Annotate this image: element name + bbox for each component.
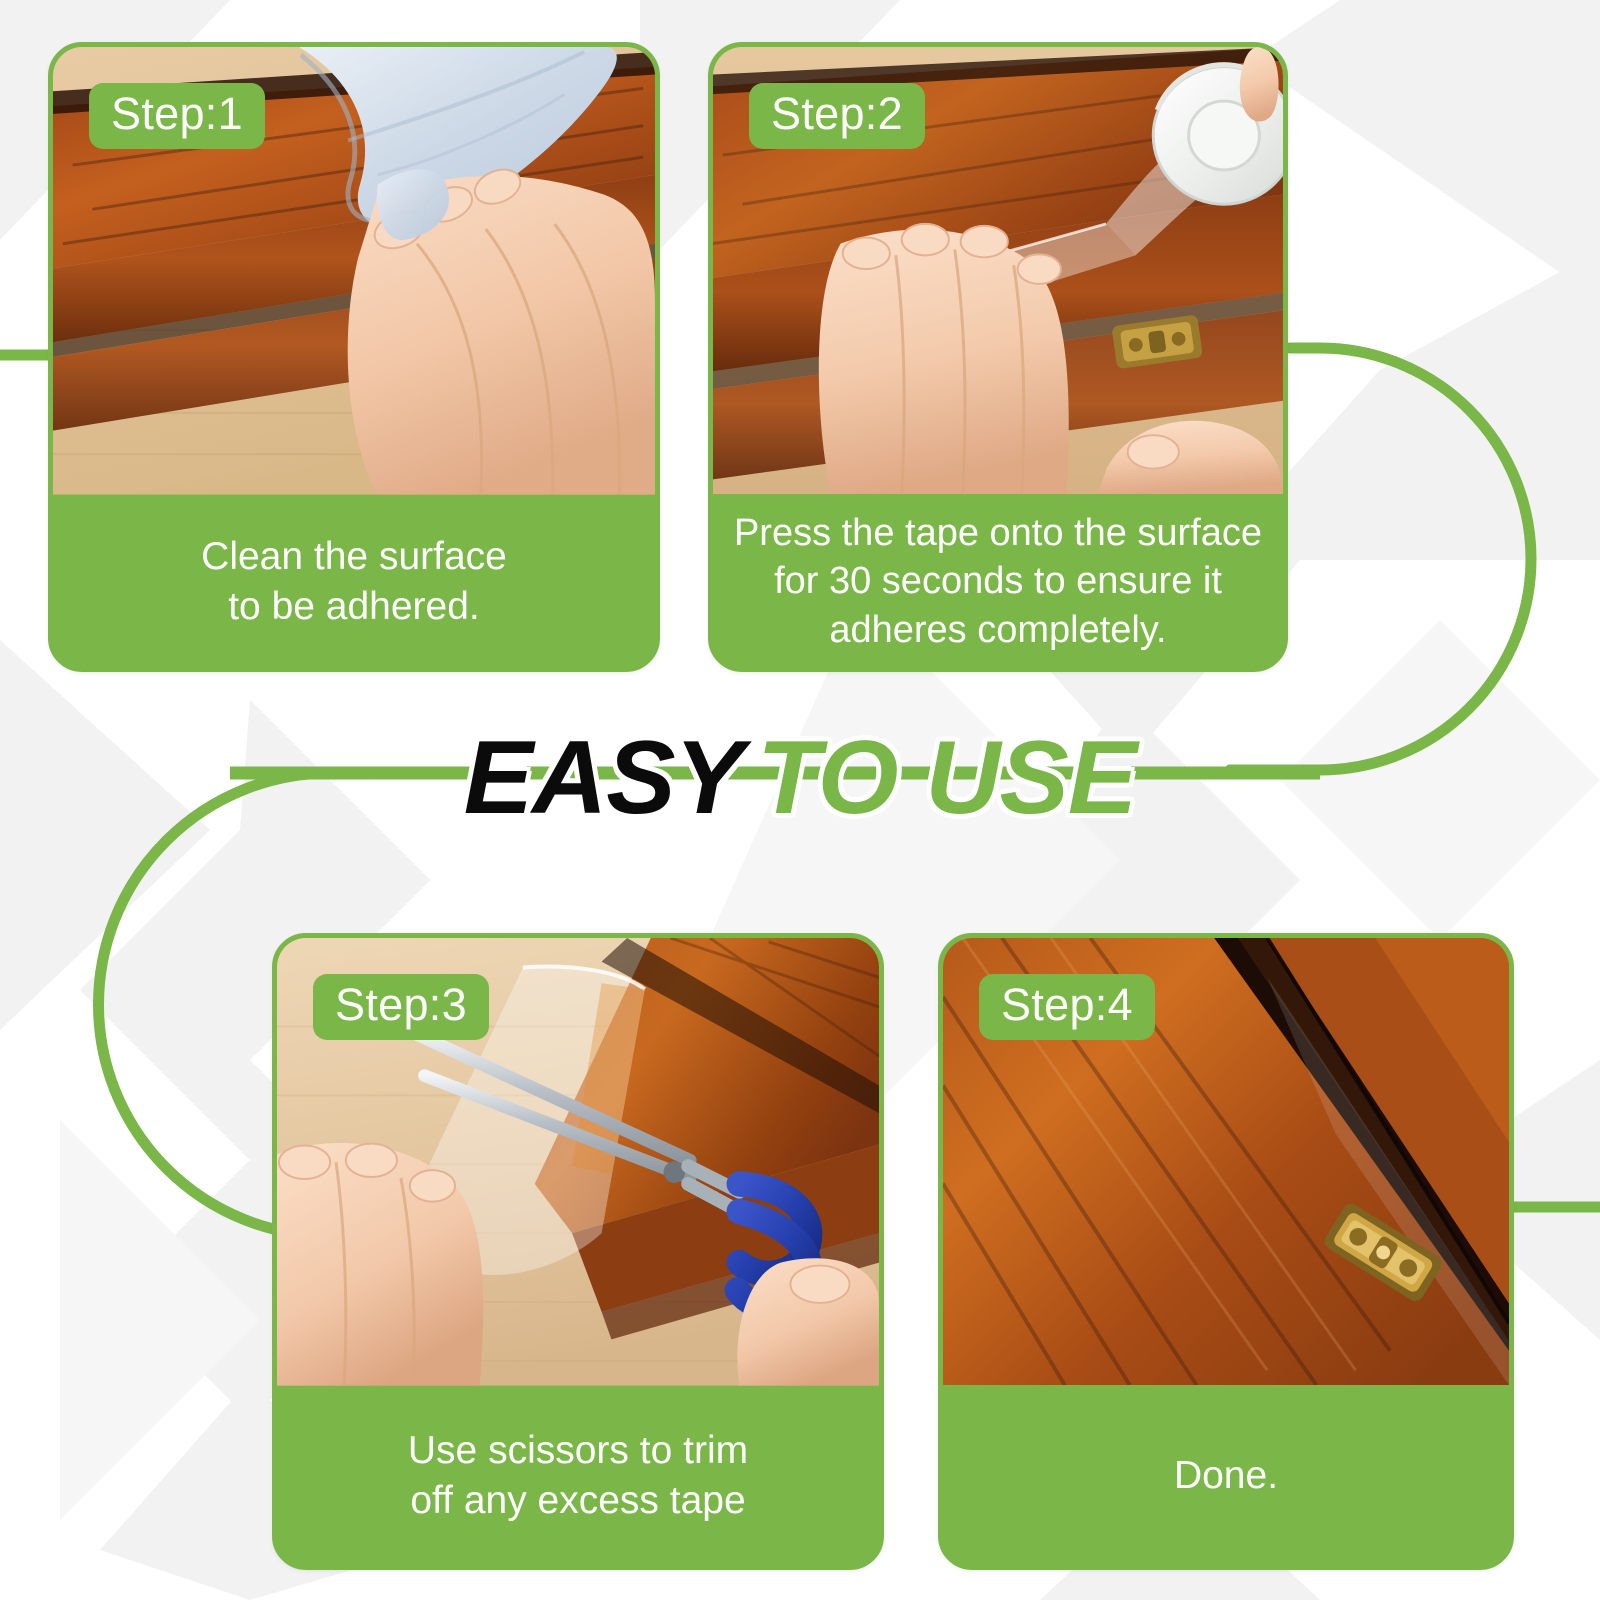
step-3-badge: Step:3 (313, 974, 489, 1040)
step-1-caption-line-2: to be adhered. (228, 585, 480, 628)
step-card-1[interactable]: Step:1 Clean the surface to be adhered. (48, 42, 660, 672)
step-2-badge: Step:2 (749, 83, 925, 149)
step-card-4[interactable]: Step:4 Done. (938, 933, 1514, 1570)
step-3-caption: Use scissors to trim off any excess tape (277, 1393, 879, 1565)
step-2-caption-line-1: Press the tape onto the surface (734, 512, 1262, 554)
step-2-caption: Press the tape onto the surface for 30 s… (713, 502, 1283, 667)
step-card-3[interactable]: Step:3 Use scissors to trim off any exce… (272, 933, 884, 1570)
step-2-caption-line-2: for 30 seconds to ensure it (774, 560, 1222, 602)
step-1-caption: Clean the surface to be adhered. (53, 502, 655, 667)
step-1-badge: Step:1 (89, 83, 265, 149)
step-3-caption-line-2: off any excess tape (410, 1479, 745, 1522)
step-1-caption-line-1: Clean the surface (201, 535, 507, 578)
step-card-2[interactable]: Step:2 Press the tape onto the surface f… (708, 42, 1288, 672)
step-2-caption-line-3: adheres completely. (829, 609, 1166, 651)
step-4-caption-line-1: Done. (1174, 1451, 1278, 1501)
step-4-badge: Step:4 (979, 974, 1155, 1040)
step-3-caption-line-1: Use scissors to trim (408, 1429, 748, 1472)
step-4-caption: Done. (943, 1393, 1509, 1565)
